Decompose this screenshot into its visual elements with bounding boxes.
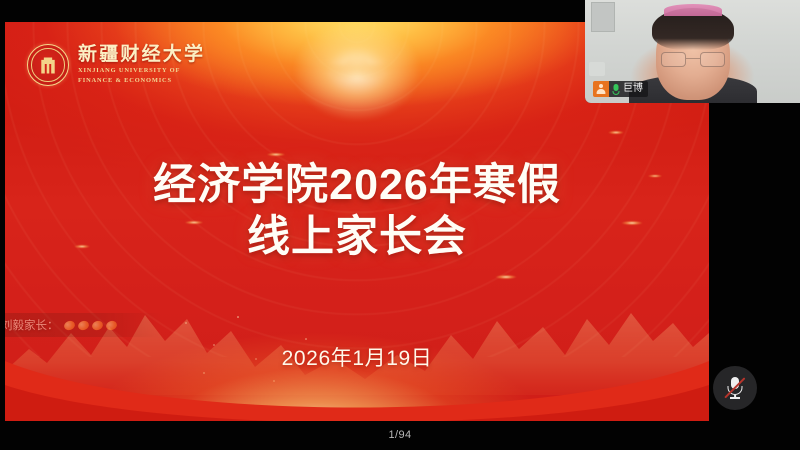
slide-page-indicator: 1/94 [0, 429, 800, 441]
chat-message-sender: 刘毅家长： [5, 317, 59, 333]
slide-title-line1: 经济学院2026年寒假 [5, 162, 709, 209]
university-seal-icon [27, 44, 69, 86]
slide-title-line2: 线上家长会 [5, 213, 709, 263]
microphone-on-icon [612, 84, 620, 95]
slide-star-burst-icon [227, 22, 487, 136]
mic-foot [730, 397, 740, 399]
participant-headband [664, 4, 722, 16]
meeting-screen: 新疆财经大学 XINJIANG UNIVERSITY OF FINANCE & … [0, 0, 800, 450]
emoji-icon [104, 319, 118, 331]
mic-base [613, 91, 620, 95]
background-wall-panel [591, 2, 615, 32]
university-name-en-line1: XINJIANG UNIVERSITY OF [78, 66, 205, 75]
emoji-icon [62, 319, 76, 331]
seal-glyph [40, 57, 56, 74]
emoji-icon [90, 319, 104, 331]
participant-name-chip: 巨博 [609, 81, 648, 97]
university-brand-lockup: 新疆财经大学 XINJIANG UNIVERSITY OF FINANCE & … [27, 44, 205, 86]
chat-message-toast: 刘毅家长： [5, 313, 161, 337]
glasses-lens-left [661, 52, 686, 67]
slide-title-block: 经济学院2026年寒假 线上家长会 [5, 162, 709, 263]
participant-glasses [661, 52, 725, 68]
participant-video-tile[interactable]: 巨博 [585, 0, 800, 103]
background-wall-object [589, 62, 605, 76]
participant-name-badge: 巨博 [593, 81, 648, 97]
glasses-bridge [686, 58, 700, 59]
university-name-cn: 新疆财经大学 [78, 45, 205, 65]
mic-capsule [614, 84, 619, 91]
chat-message-emoji-group [64, 321, 117, 330]
person-glyph [597, 84, 606, 94]
university-wordmark: 新疆财经大学 XINJIANG UNIVERSITY OF FINANCE & … [78, 45, 205, 85]
emoji-icon [76, 319, 90, 331]
person-icon [593, 81, 609, 97]
participant-name: 巨博 [623, 84, 643, 94]
glasses-lens-right [700, 52, 725, 67]
mute-microphone-button[interactable] [713, 366, 757, 410]
university-name-en-line2: FINANCE & ECONOMICS [78, 76, 205, 85]
slide-date: 2026年1月19日 [5, 342, 709, 372]
